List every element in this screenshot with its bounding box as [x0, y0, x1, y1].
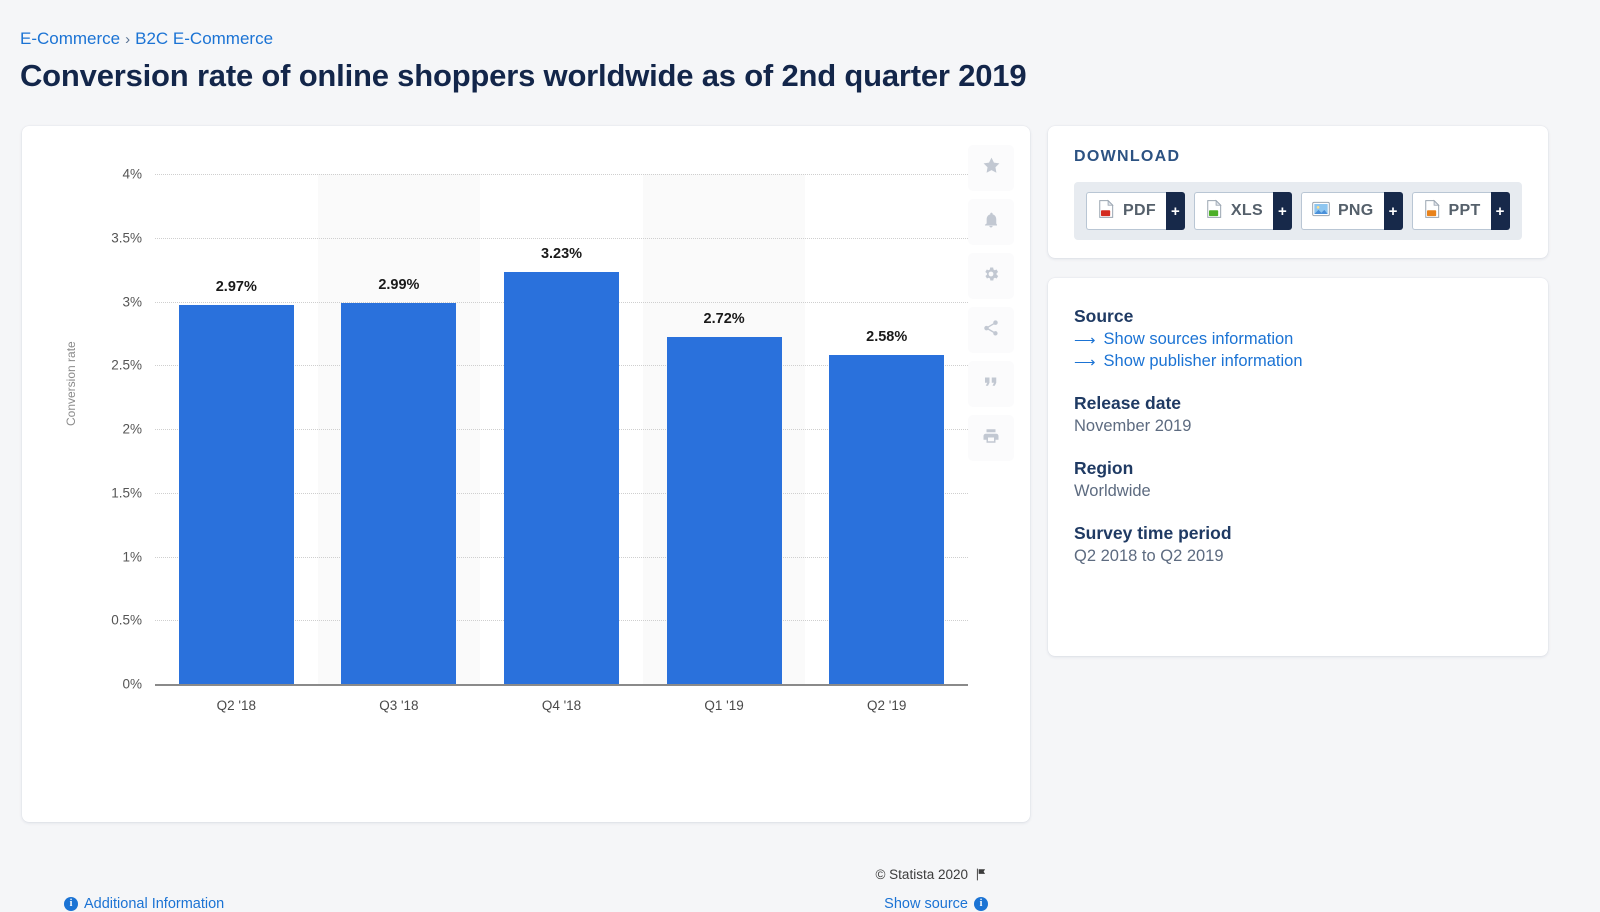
info-icon: i	[974, 897, 988, 911]
show-publisher-information-link[interactable]: ⟶ Show publisher information	[1074, 352, 1522, 371]
quote-icon	[982, 373, 1000, 396]
y-axis-tick-label: 2%	[42, 422, 142, 437]
bar[interactable]	[341, 303, 456, 684]
gear-icon	[982, 265, 1000, 288]
download-pdf-label: PDF	[1123, 202, 1156, 220]
y-axis-tick-label: 1.5%	[42, 485, 142, 500]
y-axis-tick-label: 0%	[42, 677, 142, 692]
bar-value-label: 2.72%	[704, 311, 745, 327]
region-heading: Region	[1074, 458, 1522, 479]
arrow-right-icon: ⟶	[1074, 331, 1096, 349]
release-date-heading: Release date	[1074, 393, 1522, 414]
bar[interactable]	[829, 355, 944, 684]
download-ppt-button[interactable]: PPT+	[1412, 192, 1510, 230]
download-pdf-options-button[interactable]: +	[1166, 192, 1185, 230]
bar-value-label: 2.99%	[378, 277, 419, 293]
ppt-file-icon	[1422, 199, 1442, 224]
show-sources-information-label: Show sources information	[1104, 330, 1294, 349]
print-icon	[982, 427, 1000, 450]
download-png-label: PNG	[1338, 202, 1374, 220]
xls-file-icon	[1204, 199, 1224, 224]
page-title: Conversion rate of online shoppers world…	[20, 58, 1026, 94]
y-axis-ticks: 4%3.5%3%2.5%2%1.5%1%0.5%0%	[32, 126, 142, 822]
info-icon: i	[64, 897, 78, 911]
show-source-label: Show source	[884, 896, 968, 912]
bar[interactable]	[504, 272, 619, 684]
x-axis-tick-label: Q3 '18	[379, 698, 418, 713]
x-axis-tick-label: Q2 '18	[217, 698, 256, 713]
additional-information-label: Additional Information	[84, 896, 224, 912]
source-info-card: Source ⟶ Show sources information ⟶ Show…	[1048, 278, 1548, 656]
download-ppt-label: PPT	[1449, 202, 1481, 220]
alert-bell-icon-button[interactable]	[968, 199, 1014, 245]
pdf-file-icon	[1096, 199, 1116, 224]
y-axis-tick-label: 4%	[42, 167, 142, 182]
download-xls-options-button[interactable]: +	[1273, 192, 1292, 230]
breadcrumb: E-Commerce›B2C E-Commerce	[20, 29, 273, 49]
download-png-options-button[interactable]: +	[1384, 192, 1403, 230]
gridline	[155, 174, 968, 175]
chart-card: 4%3.5%3%2.5%2%1.5%1%0.5%0% Conversion ra…	[22, 126, 1030, 822]
download-ppt-options-button[interactable]: +	[1491, 192, 1510, 230]
survey-time-period-heading: Survey time period	[1074, 523, 1522, 544]
y-axis-title: Conversion rate	[64, 266, 78, 426]
bar[interactable]	[667, 337, 782, 684]
download-png-button[interactable]: PNG+	[1301, 192, 1403, 230]
source-heading: Source	[1074, 306, 1522, 327]
release-date-value: November 2019	[1074, 417, 1522, 436]
download-pdf-button[interactable]: PDF+	[1086, 192, 1185, 230]
x-axis-tick-label: Q2 '19	[867, 698, 906, 713]
y-axis-tick-label: 3%	[42, 294, 142, 309]
x-axis-tick-label: Q4 '18	[542, 698, 581, 713]
additional-information-link[interactable]: i Additional Information	[64, 896, 224, 912]
bar-value-label: 3.23%	[541, 246, 582, 262]
favorite-icon-button[interactable]	[968, 145, 1014, 191]
print-icon-button[interactable]	[968, 415, 1014, 461]
download-xls-label: XLS	[1231, 202, 1263, 220]
breadcrumb-separator: ›	[125, 31, 130, 48]
download-title: DOWNLOAD	[1074, 148, 1180, 166]
x-axis-tick-label: Q1 '19	[704, 698, 743, 713]
y-axis-tick-label: 2.5%	[42, 358, 142, 373]
arrow-right-icon: ⟶	[1074, 353, 1096, 371]
share-icon	[982, 319, 1000, 342]
region-value: Worldwide	[1074, 482, 1522, 501]
y-axis-tick-label: 1%	[42, 549, 142, 564]
quote-icon-button[interactable]	[968, 361, 1014, 407]
y-axis-tick-label: 0.5%	[42, 613, 142, 628]
share-icon-button[interactable]	[968, 307, 1014, 353]
download-button-strip: PDF+XLS+PNG+PPT+	[1074, 182, 1522, 240]
alert-bell-icon	[982, 211, 1000, 234]
breadcrumb-item-1[interactable]: B2C E-Commerce	[135, 29, 273, 48]
show-source-link[interactable]: Show source i	[884, 896, 988, 912]
gridline	[155, 238, 968, 239]
show-publisher-information-label: Show publisher information	[1104, 352, 1303, 371]
source-links: ⟶ Show sources information ⟶ Show publis…	[1074, 330, 1522, 371]
bar[interactable]	[179, 305, 294, 684]
y-axis-tick-label: 3.5%	[42, 230, 142, 245]
survey-time-period-value: Q2 2018 to Q2 2019	[1074, 547, 1522, 566]
copyright-text: © Statista 2020	[875, 867, 968, 882]
plot-area: 2.97%Q2 '182.99%Q3 '183.23%Q4 '182.72%Q1…	[155, 174, 968, 684]
gear-icon-button[interactable]	[968, 253, 1014, 299]
flag-icon[interactable]	[974, 867, 988, 887]
download-card: DOWNLOAD PDF+XLS+PNG+PPT+	[1048, 126, 1548, 258]
bar-value-label: 2.58%	[866, 329, 907, 345]
download-xls-button[interactable]: XLS+	[1194, 192, 1292, 230]
x-axis-line	[155, 684, 968, 686]
show-sources-information-link[interactable]: ⟶ Show sources information	[1074, 330, 1522, 349]
breadcrumb-item-0[interactable]: E-Commerce	[20, 29, 120, 48]
png-image-icon	[1311, 199, 1331, 224]
chart-toolbar	[968, 145, 1014, 461]
favorite-icon	[982, 156, 1001, 180]
bar-value-label: 2.97%	[216, 279, 257, 295]
